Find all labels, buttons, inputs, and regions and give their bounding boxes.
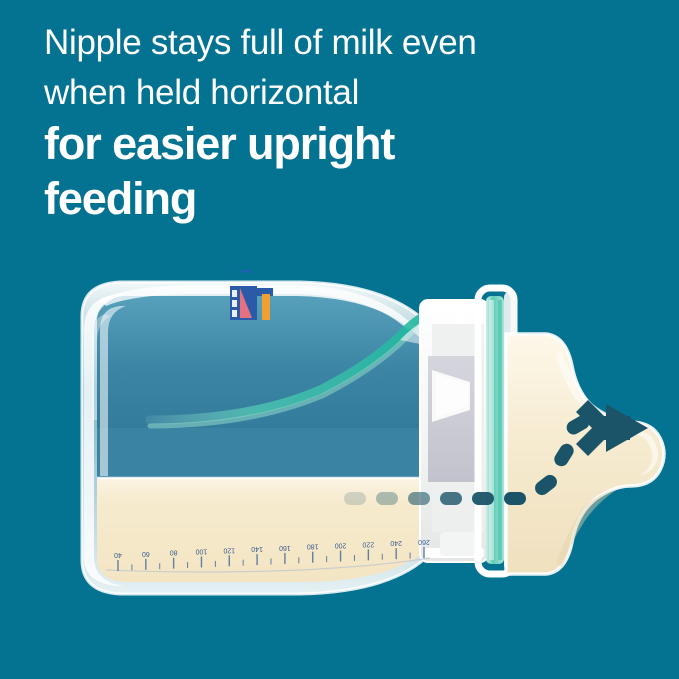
- scale-label: 100: [196, 547, 208, 554]
- valve-seal-ring: [486, 296, 504, 564]
- promo-image: Nipple stays full of milk even when held…: [0, 0, 679, 679]
- scale-label: 140: [251, 545, 263, 552]
- scale-label: 60: [142, 550, 150, 557]
- scale-label: 180: [307, 543, 319, 550]
- headline-line-1: Nipple stays full of milk even: [44, 18, 644, 68]
- scale-label: 260: [418, 538, 430, 545]
- scale-label: 80: [170, 549, 178, 556]
- scale-label: 200: [335, 542, 347, 549]
- scale-label: 160: [279, 544, 291, 551]
- headline-block: Nipple stays full of milk even when held…: [44, 18, 644, 227]
- scale-label: 240: [390, 539, 402, 546]
- philips-shield-icon: [230, 286, 273, 320]
- scale-label: 120: [223, 546, 235, 553]
- philips-wordmark: PHILIPS: [236, 270, 257, 274]
- philips-brandmark: PHILIPS: [230, 270, 273, 320]
- scale-label: 40: [114, 551, 122, 558]
- headline-line-3: for easier upright: [44, 117, 644, 172]
- scale-label: 220: [362, 540, 374, 547]
- bottle-illustration: 0%: [0, 270, 679, 679]
- bottle-teat: [506, 334, 664, 574]
- headline-line-4: feeding: [44, 172, 644, 227]
- bottle-air-region-lower: [97, 428, 466, 480]
- teat-shape: [506, 334, 664, 574]
- headline-line-2: when held horizontal: [44, 68, 644, 118]
